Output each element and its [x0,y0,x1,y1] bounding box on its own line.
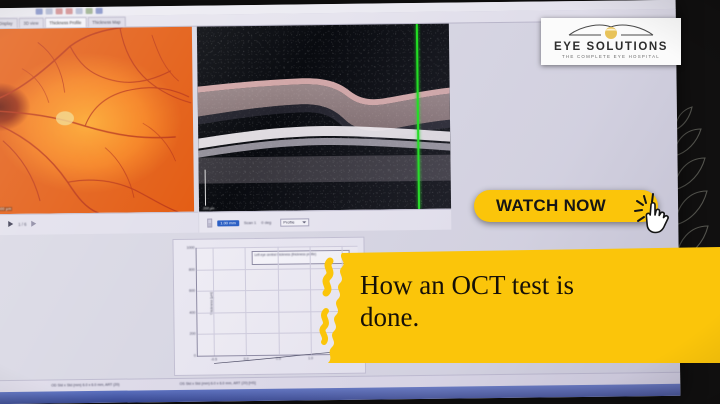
chart-x-tick: 1.0 [308,356,313,360]
tab-3d-view[interactable]: 3D view [18,17,43,27]
retinal-vessels-overlay [0,27,194,214]
logo-tagline: THE COMPLETE EYE HOSPITAL [562,53,660,60]
status-right-text: OS Std x Std (mm) 6.0 x 6.0 mm, ART (20)… [180,381,256,386]
export-icon[interactable] [86,8,93,14]
title-banner: How an OCT test is done. [316,247,720,363]
save-icon[interactable] [46,8,53,14]
tab-thickness-profile[interactable]: Thickness Profile [44,17,86,28]
chart-y-tick: 600 [189,289,195,293]
chart-x-tick: 0.0 [244,357,249,361]
retinal-layers-overlay [197,24,451,212]
zoom-icon[interactable] [66,8,73,14]
frame-counter: 1 / 6 [18,221,26,226]
chart-x-tick: 0.5 [276,356,281,360]
scan-label: Scan 1 [244,220,257,225]
spinner-icon[interactable] [207,219,212,228]
chart-y-tick: 400 [189,311,195,315]
measure-icon[interactable] [76,8,83,14]
title-line-2: done. [360,301,690,333]
title-line-1: How an OCT test is [360,269,690,301]
chart-y-tick: 200 [190,332,196,336]
oct-b-scan[interactable]: 200 µm [197,24,451,212]
screenshot-stage: Display 3D view Thickness Profile Thickn… [0,0,720,404]
print-icon[interactable] [56,8,63,14]
play-icon[interactable] [8,221,13,227]
bscan-scale-label: 200 µm [203,206,214,210]
chart-y-tick: 1000 [187,246,195,250]
status-left-text: OD Std x Std (mm) 6.0 x 6.0 mm, ART (20) [51,383,119,388]
playback-bar: 1 / 6 [0,212,198,235]
profile-dropdown[interactable]: Profile [280,218,309,226]
click-hand-cursor-icon [634,192,678,234]
tab-thickness-map[interactable]: Thickness Map [87,16,125,26]
watch-now-button[interactable]: WATCH NOW [474,190,658,222]
tab-display[interactable]: Display [0,17,18,27]
fundus-scale-label: 500 µm [0,207,12,211]
page-title: How an OCT test is done. [360,269,690,333]
settings-icon[interactable] [96,8,103,14]
profile-dropdown-label: Profile [283,220,294,225]
angle-label: 0 deg [261,220,271,225]
brand-logo-card: EYE SOLUTIONS THE COMPLETE EYE HOSPITAL [541,18,681,65]
chevron-down-icon [303,221,307,223]
eye-icon [567,24,655,41]
fundus-thickness-map[interactable]: 500 µm [0,27,194,214]
open-icon[interactable] [36,9,43,15]
step-forward-icon[interactable] [31,221,36,227]
watch-now-label: WATCH NOW [496,196,606,216]
chart-x-tick: -0.5 [211,357,217,361]
logo-name: EYE SOLUTIONS [554,41,668,53]
chart-y-tick: 800 [189,267,195,271]
scan-control-bar: 1.00 mm Scan 1 0 deg Profile [199,209,451,233]
selected-thickness-value[interactable]: 1.00 mm [217,220,239,226]
chart-y-tick: 0 [194,354,196,358]
